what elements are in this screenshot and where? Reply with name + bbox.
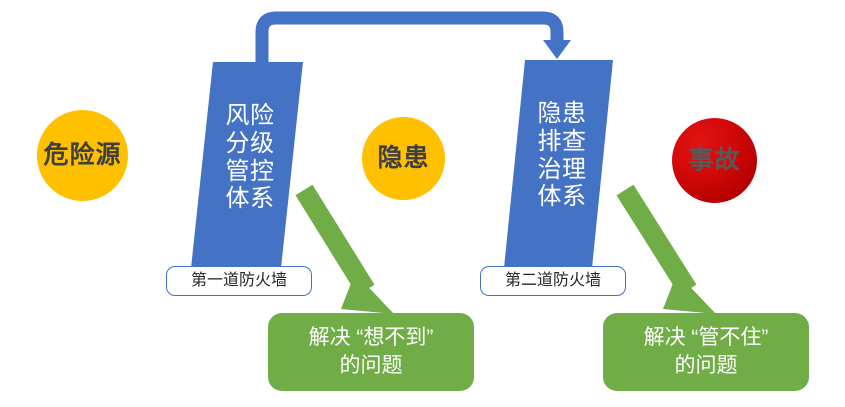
firewall-badge-second: 第二道防火墙 <box>480 266 626 296</box>
diagram-canvas: 危险源 隐患 事故 风险 分级 管控 体系 隐患 排查 治理 体系 第一道防火墙… <box>0 0 845 407</box>
solution-box-uncontrollable: 解决 “管不住” 的问题 <box>603 313 809 391</box>
firewall-badge-second-label: 第二道防火墙 <box>505 273 601 289</box>
pillar-label-risk-control: 风险 分级 管控 体系 <box>213 102 287 213</box>
circle-hazard-source-label: 危险源 <box>43 143 121 168</box>
circle-accident-label: 事故 <box>688 148 740 173</box>
circle-accident: 事故 <box>672 118 757 203</box>
firewall-badge-first: 第一道防火墙 <box>166 266 312 296</box>
green-arrow-1 <box>304 190 394 314</box>
green-arrow-2 <box>625 190 716 314</box>
pillar-label-hazard-investigation: 隐患 排查 治理 体系 <box>525 100 599 211</box>
top-loop-arrow <box>262 18 571 62</box>
solution-box-unthinkable: 解决 “想不到” 的问题 <box>268 313 474 391</box>
firewall-badge-first-label: 第一道防火墙 <box>191 273 287 289</box>
circle-hazard-source: 危险源 <box>37 110 128 201</box>
circle-hidden-danger: 隐患 <box>362 117 445 200</box>
circle-hidden-danger-label: 隐患 <box>377 146 429 171</box>
